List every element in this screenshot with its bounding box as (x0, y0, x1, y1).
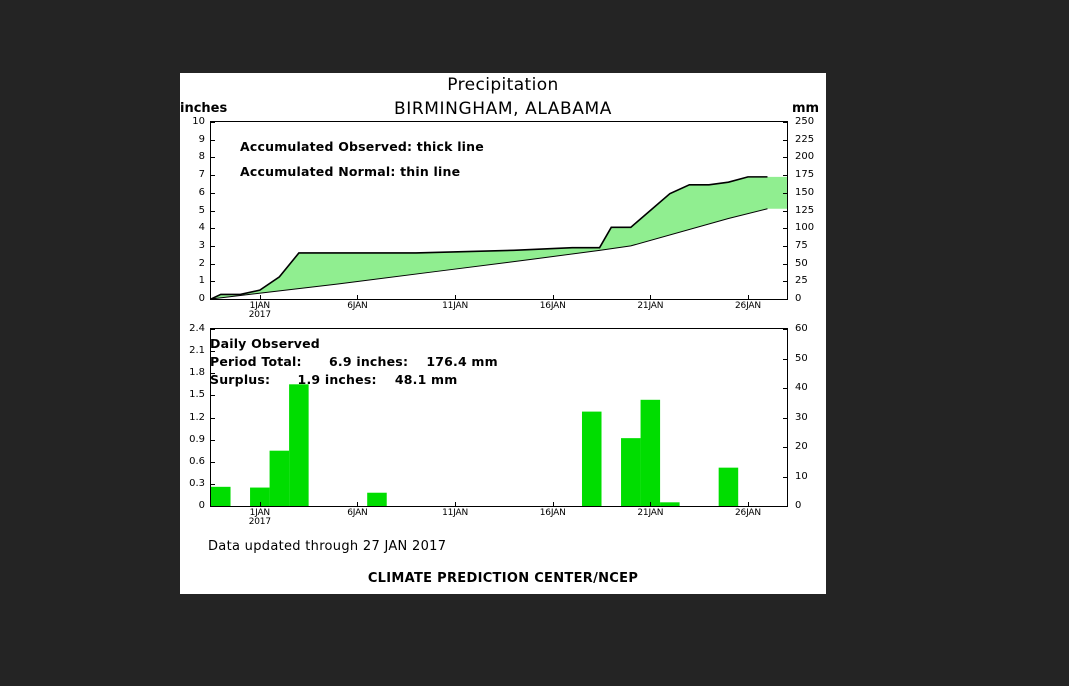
data-updated-text: Data updated through 27 JAN 2017 (208, 539, 446, 554)
daily-ytick-mark (211, 351, 215, 352)
daily-bar (660, 502, 680, 506)
accum-ytick-right: 0 (795, 294, 825, 304)
daily-ytick-right: 50 (795, 354, 825, 364)
accum-ytick-left: 8 (183, 152, 205, 162)
daily-ytick-right: 10 (795, 472, 825, 482)
daily-ytick-mark (211, 418, 215, 419)
station-title: BIRMINGHAM, ALABAMA (180, 99, 826, 119)
daily-ytick-left: 0.6 (181, 457, 205, 467)
daily-ytick-right: 60 (795, 324, 825, 334)
daily-bar (289, 384, 309, 506)
accum-ytick-right: 200 (795, 152, 825, 162)
surplus-fill (212, 177, 787, 299)
accum-xtick-mark (553, 295, 554, 300)
daily-xtick-mark (260, 502, 261, 507)
accum-ytick-left: 0 (183, 294, 205, 304)
accum-ytick-mark (211, 193, 215, 194)
daily-ytick-mark-right (783, 418, 787, 419)
accum-ytick-mark-right (783, 157, 787, 158)
daily-xtick-year: 2017 (230, 518, 290, 527)
accum-ytick-mark (211, 211, 215, 212)
accum-ytick-left: 10 (183, 117, 205, 127)
daily-ytick-left: 2.1 (181, 346, 205, 356)
legend-accumulated-normal: Accumulated Normal: thin line (240, 164, 460, 179)
accum-xtick-mark (650, 295, 651, 300)
daily-xtick-mark (455, 502, 456, 507)
accum-ytick-mark-right (783, 299, 787, 300)
accum-xtick-label: 16JAN (523, 302, 583, 311)
accum-ytick-right: 100 (795, 223, 825, 233)
daily-bar (621, 438, 641, 506)
daily-ytick-mark-right (783, 359, 787, 360)
accum-xtick-mark (260, 295, 261, 300)
surplus-label: Surplus: 1.9 inches: 48.1 mm (210, 372, 458, 387)
daily-ytick-left: 1.2 (181, 413, 205, 423)
daily-ytick-right: 30 (795, 413, 825, 423)
accum-xtick-mark (357, 295, 358, 300)
daily-ytick-right: 0 (795, 501, 825, 511)
daily-ytick-mark (211, 440, 215, 441)
accum-ytick-right: 25 (795, 276, 825, 286)
page-title: Precipitation (180, 75, 826, 95)
accum-ytick-mark (211, 264, 215, 265)
accum-ytick-right: 250 (795, 117, 825, 127)
accum-xtick-label: 21JAN (620, 302, 680, 311)
daily-xtick-mark (553, 502, 554, 507)
accum-ytick-left: 4 (183, 223, 205, 233)
accum-ytick-right: 225 (795, 135, 825, 145)
accum-ytick-left: 6 (183, 188, 205, 198)
daily-xtick-label: 16JAN (523, 509, 583, 518)
accum-ytick-mark (211, 175, 215, 176)
daily-bar (211, 487, 231, 506)
daily-xtick-label: 6JAN (327, 509, 387, 518)
daily-ytick-mark-right (783, 329, 787, 330)
accum-ytick-mark-right (783, 175, 787, 176)
producer-credit: CLIMATE PREDICTION CENTER/NCEP (180, 571, 826, 586)
daily-xtick-mark (357, 502, 358, 507)
accum-ytick-mark-right (783, 122, 787, 123)
accum-ytick-mark (211, 246, 215, 247)
accum-ytick-left: 1 (183, 276, 205, 286)
daily-bar (270, 451, 290, 506)
accum-ytick-mark-right (783, 264, 787, 265)
daily-ytick-left: 1.8 (181, 368, 205, 378)
legend-accumulated-observed: Accumulated Observed: thick line (240, 139, 484, 154)
chart-page: Precipitation BIRMINGHAM, ALABAMA inches… (180, 73, 826, 594)
daily-ytick-left: 2.4 (181, 324, 205, 334)
daily-ytick-left: 1.5 (181, 390, 205, 400)
daily-xtick-label: 26JAN (718, 509, 778, 518)
daily-ytick-right: 20 (795, 442, 825, 452)
left-axis-unit-label: inches (180, 101, 227, 116)
daily-ytick-left: 0.3 (181, 479, 205, 489)
accum-ytick-right: 150 (795, 188, 825, 198)
accum-ytick-mark-right (783, 228, 787, 229)
accum-ytick-mark-right (783, 211, 787, 212)
accum-ytick-mark-right (783, 193, 787, 194)
period-total-label: Period Total: 6.9 inches: 176.4 mm (210, 354, 498, 369)
daily-xtick-mark (650, 502, 651, 507)
accum-ytick-right: 75 (795, 241, 825, 251)
screenshot-root: Precipitation BIRMINGHAM, ALABAMA inches… (0, 0, 1069, 686)
accum-ytick-mark (211, 140, 215, 141)
daily-ytick-mark-right (783, 477, 787, 478)
accum-xtick-label: 6JAN (327, 302, 387, 311)
accum-xtick-mark (748, 295, 749, 300)
daily-ytick-mark (211, 506, 215, 507)
daily-ytick-mark (211, 484, 215, 485)
daily-xtick-label: 21JAN (620, 509, 680, 518)
accum-ytick-left: 7 (183, 170, 205, 180)
daily-bar (719, 468, 739, 506)
daily-ytick-mark (211, 395, 215, 396)
accum-xtick-year: 2017 (230, 311, 290, 320)
accum-ytick-left: 9 (183, 135, 205, 145)
accum-ytick-mark-right (783, 281, 787, 282)
accum-ytick-right: 175 (795, 170, 825, 180)
accum-ytick-mark-right (783, 246, 787, 247)
daily-xtick-label: 11JAN (425, 509, 485, 518)
accum-ytick-left: 2 (183, 259, 205, 269)
accum-xtick-mark (455, 295, 456, 300)
accum-ytick-mark (211, 281, 215, 282)
daily-ytick-left: 0 (181, 501, 205, 511)
accum-ytick-right: 50 (795, 259, 825, 269)
accum-ytick-mark-right (783, 140, 787, 141)
daily-ytick-mark-right (783, 506, 787, 507)
daily-ytick-mark-right (783, 447, 787, 448)
accum-ytick-right: 125 (795, 206, 825, 216)
accum-ytick-left: 3 (183, 241, 205, 251)
daily-observed-label: Daily Observed (210, 336, 320, 351)
daily-ytick-mark (211, 329, 215, 330)
accum-ytick-mark (211, 228, 215, 229)
daily-bar (367, 493, 387, 506)
daily-bar (641, 400, 661, 506)
daily-ytick-mark (211, 462, 215, 463)
accum-ytick-left: 5 (183, 206, 205, 216)
accum-ytick-mark (211, 299, 215, 300)
accum-ytick-mark (211, 157, 215, 158)
accum-xtick-label: 11JAN (425, 302, 485, 311)
daily-xtick-mark (748, 502, 749, 507)
daily-ytick-left: 0.9 (181, 435, 205, 445)
daily-bar (582, 412, 602, 506)
daily-ytick-right: 40 (795, 383, 825, 393)
accum-ytick-mark (211, 122, 215, 123)
accum-xtick-label: 26JAN (718, 302, 778, 311)
daily-ytick-mark-right (783, 388, 787, 389)
right-axis-unit-label: mm (792, 101, 819, 116)
